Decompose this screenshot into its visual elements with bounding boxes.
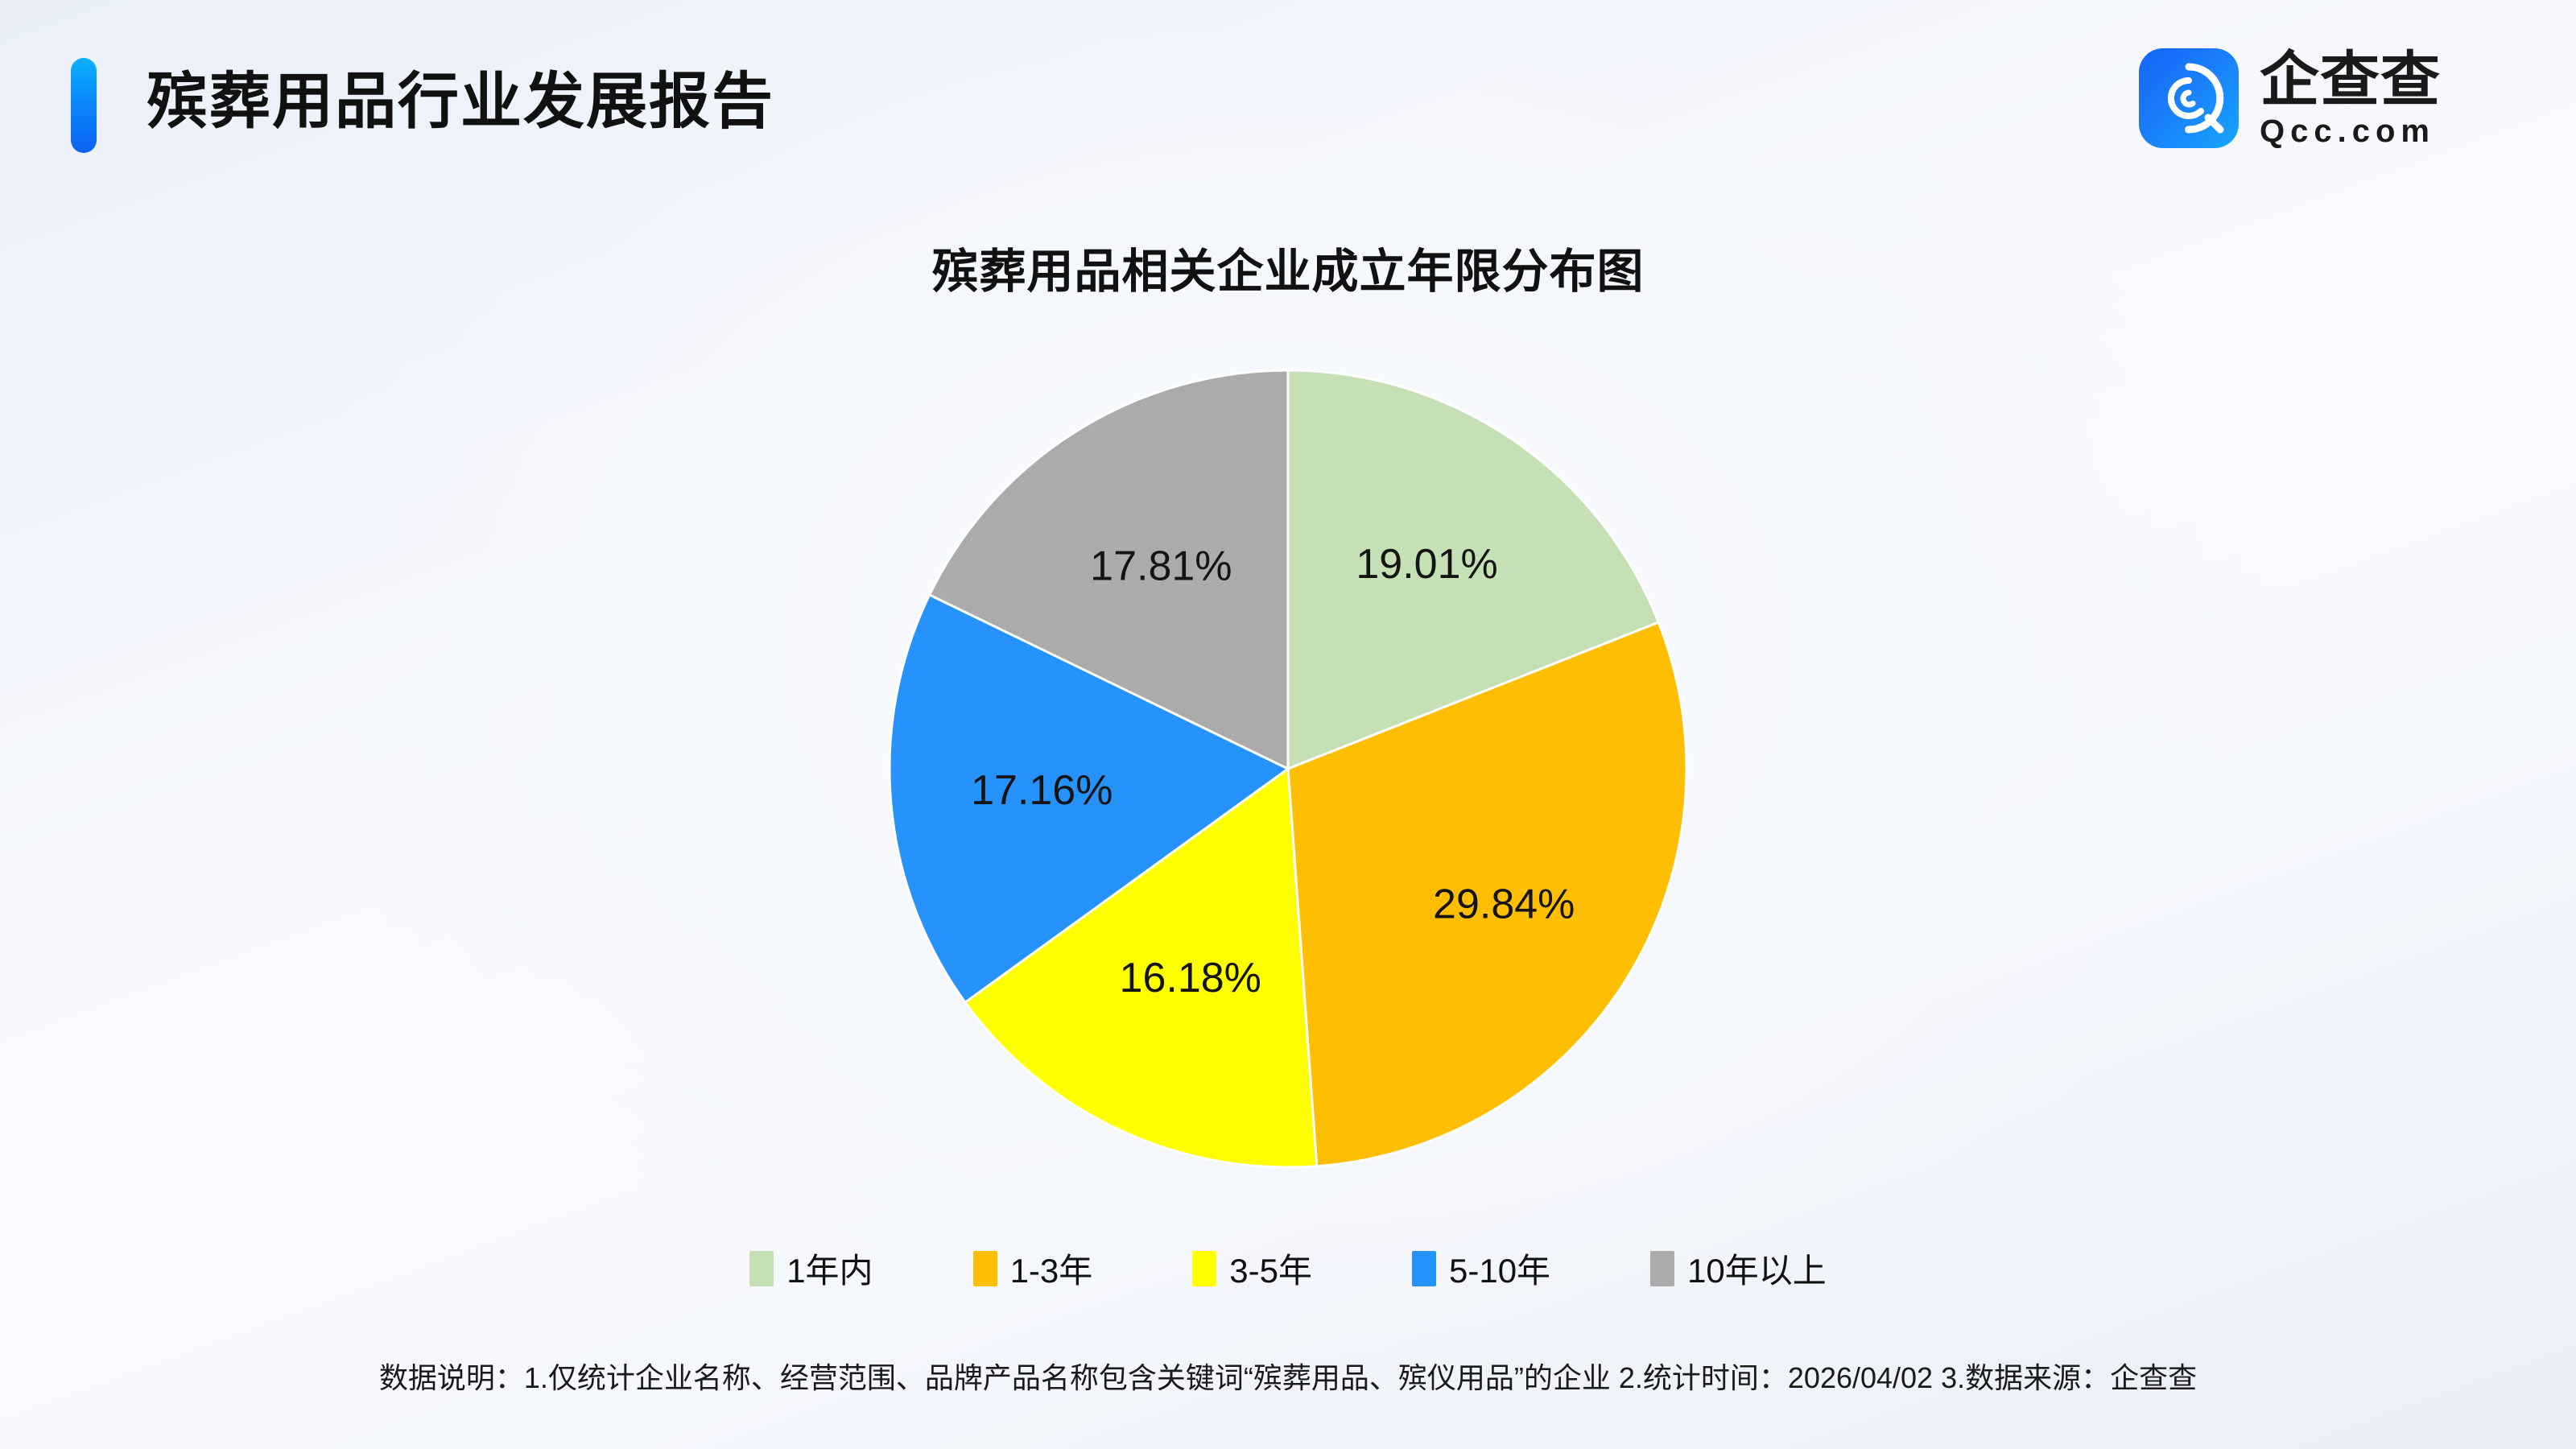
title-accent-bar <box>71 58 97 153</box>
pie-chart: 19.01%29.84%16.18%17.16%17.81% <box>877 354 1699 1183</box>
logo-text: 企查查 Qcc.com <box>2260 47 2441 150</box>
pie-chart-svg: 19.01%29.84%16.18%17.16%17.81% <box>877 354 1699 1183</box>
pie-slice-value: 19.01% <box>1356 541 1497 588</box>
footer-note: 数据说明：1.仅统计企业名称、经营范围、品牌产品名称包含关键词“殡葬用品、殡仪用… <box>0 1355 2576 1397</box>
legend-swatch <box>749 1251 774 1286</box>
legend-swatch <box>1192 1251 1216 1286</box>
qcc-logo-icon <box>2139 48 2239 148</box>
brand-logo[interactable]: 企查查 Qcc.com <box>2139 47 2441 150</box>
header: 殡葬用品行业发展报告 企查查 Qcc.com <box>0 0 2576 201</box>
chart-legend: 1年内1-3年3-5年5-10年10年以上 <box>0 1244 2576 1293</box>
legend-swatch <box>1412 1251 1436 1286</box>
report-page: 殡葬用品行业发展报告 企查查 Qcc.com 殡葬用品相关企业成立年限分布图 <box>0 0 2576 1449</box>
logo-domain: Qcc.com <box>2260 113 2441 150</box>
legend-item[interactable]: 1年内 <box>749 1244 873 1293</box>
legend-label: 5-10年 <box>1449 1244 1550 1293</box>
legend-label: 10年以上 <box>1687 1244 1827 1293</box>
legend-item[interactable]: 10年以上 <box>1650 1244 1827 1293</box>
legend-label: 3-5年 <box>1229 1244 1312 1293</box>
logo-cn-name: 企查查 <box>2260 47 2441 113</box>
legend-label: 1-3年 <box>1010 1244 1093 1293</box>
pie-slice-value: 16.18% <box>1120 955 1261 1001</box>
legend-item[interactable]: 3-5年 <box>1192 1244 1312 1293</box>
pie-slice-value: 17.81% <box>1090 543 1232 589</box>
legend-item[interactable]: 1-3年 <box>973 1244 1093 1293</box>
page-title: 殡葬用品行业发展报告 <box>147 50 774 155</box>
legend-swatch <box>973 1251 997 1286</box>
legend-item[interactable]: 5-10年 <box>1412 1244 1550 1293</box>
legend-label: 1年内 <box>786 1244 873 1293</box>
pie-slice-value: 17.16% <box>971 767 1113 814</box>
pie-slice-value: 29.84% <box>1433 881 1575 928</box>
chart-title: 殡葬用品相关企业成立年限分布图 <box>0 233 2576 301</box>
legend-swatch <box>1650 1251 1674 1286</box>
